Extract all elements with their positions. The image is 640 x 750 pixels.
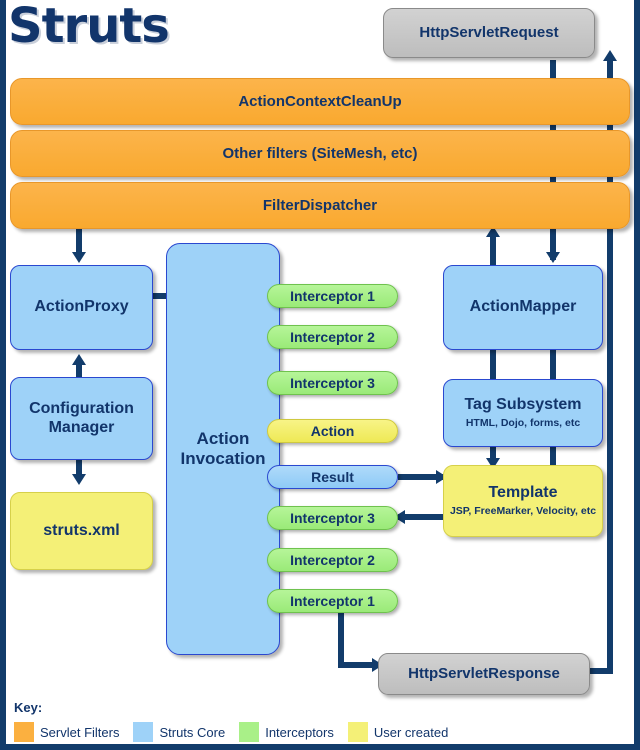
box-http-servlet-request[interactable]: HttpServletRequest (383, 8, 595, 58)
box-action-mapper[interactable]: ActionMapper (443, 265, 603, 350)
arrowhead-configmanager-to-strutsxml (72, 474, 86, 485)
key-label-interceptors: Interceptors (265, 725, 334, 740)
box-action-context-cleanup[interactable]: ActionContextCleanUp (10, 78, 630, 125)
key-swatch-interceptors (239, 722, 259, 742)
box-label: Configuration Manager (11, 400, 152, 438)
connector-actionmapper-to-filterdispatcher (490, 234, 496, 266)
pill-result[interactable]: Result (267, 465, 398, 489)
key-label-servlet-filters: Servlet Filters (40, 725, 119, 740)
box-other-filters[interactable]: Other filters (SiteMesh, etc) (10, 130, 630, 177)
pill-label: Interceptor 3 (290, 510, 375, 526)
box-filter-dispatcher[interactable]: FilterDispatcher (10, 182, 630, 229)
box-label: Template (488, 484, 557, 503)
box-template[interactable]: Template JSP, FreeMarker, Velocity, etc (443, 465, 603, 537)
box-label: HttpServletResponse (408, 665, 560, 683)
key-swatch-servlet-filters (14, 722, 34, 742)
pill-interceptor-3-in[interactable]: Interceptor 3 (267, 371, 398, 395)
key-item-struts-core: Struts Core (133, 722, 225, 742)
box-sublabel: JSP, FreeMarker, Velocity, etc (450, 505, 596, 517)
key-item-servlet-filters: Servlet Filters (14, 722, 119, 742)
key-item-interceptors: Interceptors (239, 722, 334, 742)
pill-interceptor-1-out[interactable]: Interceptor 1 (267, 589, 398, 613)
key-item-user-created: User created (348, 722, 448, 742)
key-swatch-struts-core (133, 722, 153, 742)
connector-interceptor1-down (338, 612, 344, 668)
box-label: Tag Subsystem (464, 396, 581, 415)
key-label-struts-core: Struts Core (159, 725, 225, 740)
box-sublabel: HTML, Dojo, forms, etc (466, 417, 580, 429)
box-label: struts.xml (43, 522, 119, 541)
box-configuration-manager[interactable]: Configuration Manager (10, 377, 153, 460)
box-label: HttpServletRequest (419, 24, 558, 42)
arrowhead-request-to-actionmapper (546, 252, 560, 263)
pill-interceptor-2-out[interactable]: Interceptor 2 (267, 548, 398, 572)
key-legend: Servlet Filters Struts Core Interceptors… (14, 722, 462, 742)
pill-label: Result (311, 469, 354, 485)
pill-label: Interceptor 1 (290, 288, 375, 304)
box-label: Action Invocation (167, 429, 279, 469)
box-struts-xml[interactable]: struts.xml (10, 492, 153, 570)
key-label-user-created: User created (374, 725, 448, 740)
pill-interceptor-3-out[interactable]: Interceptor 3 (267, 506, 398, 530)
key-swatch-user-created (348, 722, 368, 742)
box-http-servlet-response[interactable]: HttpServletResponse (378, 653, 590, 695)
box-label: FilterDispatcher (263, 197, 377, 215)
arrowhead-filterdispatcher-to-actionproxy (72, 252, 86, 263)
connector-actionmapper-to-tagsubsystem (490, 348, 496, 380)
arrowhead-response-return (603, 50, 617, 61)
pill-label: Interceptor 2 (290, 552, 375, 568)
key-title: Key: (14, 700, 42, 715)
pill-label: Interceptor 3 (290, 375, 375, 391)
box-tag-subsystem[interactable]: Tag Subsystem HTML, Dojo, forms, etc (443, 379, 603, 447)
box-label: ActionMapper (470, 298, 577, 317)
arrowhead-configmanager-to-actionproxy (72, 354, 86, 365)
box-action-invocation[interactable]: Action Invocation (166, 243, 280, 655)
pill-interceptor-2-in[interactable]: Interceptor 2 (267, 325, 398, 349)
box-label: ActionContextCleanUp (238, 93, 401, 111)
box-label: ActionProxy (34, 298, 128, 317)
box-label: Other filters (SiteMesh, etc) (222, 145, 417, 163)
pill-label: Interceptor 1 (290, 593, 375, 609)
pill-label: Interceptor 2 (290, 329, 375, 345)
pill-label: Action (311, 423, 355, 439)
pill-action[interactable]: Action (267, 419, 398, 443)
struts-architecture-diagram: Struts HttpServletRe (0, 0, 640, 750)
pill-interceptor-1-in[interactable]: Interceptor 1 (267, 284, 398, 308)
box-action-proxy[interactable]: ActionProxy (10, 265, 153, 350)
page-title: Struts (8, 0, 169, 54)
